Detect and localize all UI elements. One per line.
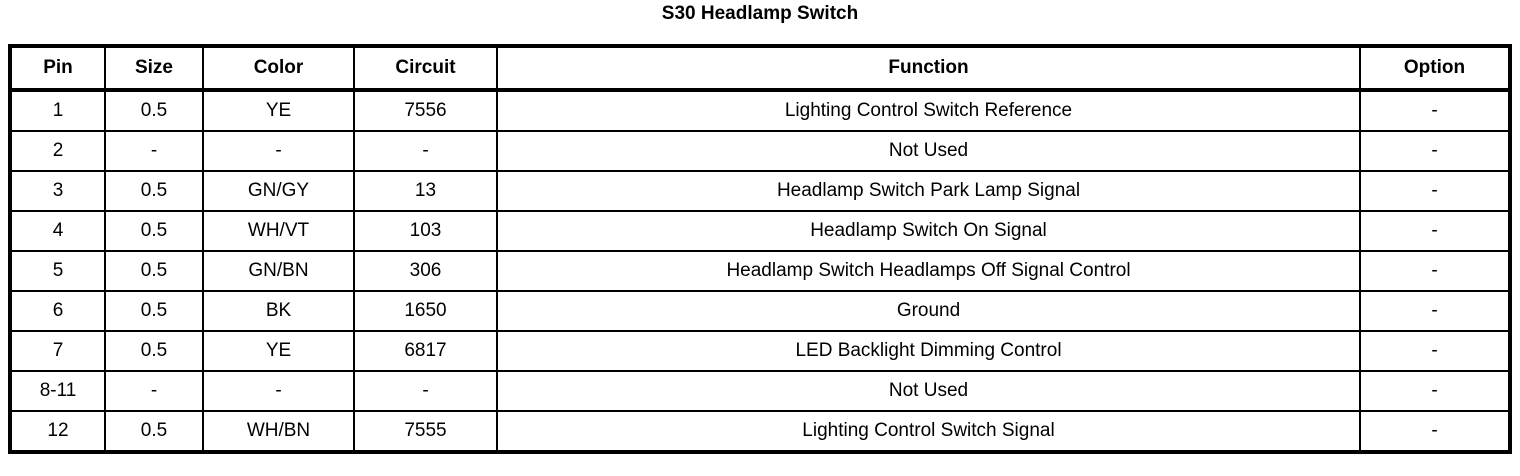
cell-pin: 7 xyxy=(10,331,105,371)
table-row: 3 0.5 GN/GY 13 Headlamp Switch Park Lamp… xyxy=(10,171,1510,211)
column-header-size: Size xyxy=(105,46,203,90)
column-header-color: Color xyxy=(203,46,354,90)
cell-function: Headlamp Switch On Signal xyxy=(497,211,1360,251)
table-row: 12 0.5 WH/BN 7555 Lighting Control Switc… xyxy=(10,411,1510,452)
cell-function: Lighting Control Switch Reference xyxy=(497,90,1360,131)
cell-circuit: - xyxy=(354,131,497,171)
cell-option: - xyxy=(1360,331,1510,371)
cell-circuit: 103 xyxy=(354,211,497,251)
table-row: 1 0.5 YE 7556 Lighting Control Switch Re… xyxy=(10,90,1510,131)
cell-circuit: 1650 xyxy=(354,291,497,331)
cell-option: - xyxy=(1360,411,1510,452)
cell-option: - xyxy=(1360,90,1510,131)
cell-circuit: 7556 xyxy=(354,90,497,131)
cell-size: 0.5 xyxy=(105,291,203,331)
column-header-function: Function xyxy=(497,46,1360,90)
cell-pin: 6 xyxy=(10,291,105,331)
cell-function: Not Used xyxy=(497,131,1360,171)
table-row: 2 - - - Not Used - xyxy=(10,131,1510,171)
table-row: 5 0.5 GN/BN 306 Headlamp Switch Headlamp… xyxy=(10,251,1510,291)
column-header-circuit: Circuit xyxy=(354,46,497,90)
cell-function: LED Backlight Dimming Control xyxy=(497,331,1360,371)
cell-circuit: 306 xyxy=(354,251,497,291)
cell-circuit: 13 xyxy=(354,171,497,211)
cell-option: - xyxy=(1360,171,1510,211)
cell-option: - xyxy=(1360,131,1510,171)
table-body: 1 0.5 YE 7556 Lighting Control Switch Re… xyxy=(10,90,1510,452)
cell-pin: 3 xyxy=(10,171,105,211)
cell-pin: 5 xyxy=(10,251,105,291)
cell-option: - xyxy=(1360,291,1510,331)
column-header-option: Option xyxy=(1360,46,1510,90)
cell-function: Not Used xyxy=(497,371,1360,411)
cell-color: - xyxy=(203,131,354,171)
cell-color: YE xyxy=(203,90,354,131)
cell-color: WH/VT xyxy=(203,211,354,251)
cell-color: BK xyxy=(203,291,354,331)
cell-size: 0.5 xyxy=(105,211,203,251)
cell-option: - xyxy=(1360,371,1510,411)
cell-size: 0.5 xyxy=(105,171,203,211)
table-row: 6 0.5 BK 1650 Ground - xyxy=(10,291,1510,331)
cell-size: 0.5 xyxy=(105,90,203,131)
cell-size: - xyxy=(105,371,203,411)
cell-pin: 8-11 xyxy=(10,371,105,411)
cell-function: Headlamp Switch Headlamps Off Signal Con… xyxy=(497,251,1360,291)
cell-size: 0.5 xyxy=(105,411,203,452)
cell-option: - xyxy=(1360,211,1510,251)
cell-circuit: - xyxy=(354,371,497,411)
header-row: Pin Size Color Circuit Function Option xyxy=(10,46,1510,90)
cell-function: Headlamp Switch Park Lamp Signal xyxy=(497,171,1360,211)
cell-function: Ground xyxy=(497,291,1360,331)
page-title: S30 Headlamp Switch xyxy=(0,2,1520,26)
table-row: 8-11 - - - Not Used - xyxy=(10,371,1510,411)
pin-assignment-table: Pin Size Color Circuit Function Option 1… xyxy=(8,44,1512,454)
page-root: S30 Headlamp Switch Pin Size Color Circu… xyxy=(0,0,1520,476)
cell-size: 0.5 xyxy=(105,251,203,291)
table-header: Pin Size Color Circuit Function Option xyxy=(10,46,1510,90)
cell-circuit: 6817 xyxy=(354,331,497,371)
cell-color: WH/BN xyxy=(203,411,354,452)
cell-pin: 2 xyxy=(10,131,105,171)
cell-color: - xyxy=(203,371,354,411)
cell-color: GN/BN xyxy=(203,251,354,291)
cell-pin: 12 xyxy=(10,411,105,452)
cell-color: YE xyxy=(203,331,354,371)
cell-circuit: 7555 xyxy=(354,411,497,452)
cell-pin: 4 xyxy=(10,211,105,251)
cell-color: GN/GY xyxy=(203,171,354,211)
cell-size: 0.5 xyxy=(105,331,203,371)
pin-table-container: Pin Size Color Circuit Function Option 1… xyxy=(8,44,1512,454)
cell-function: Lighting Control Switch Signal xyxy=(497,411,1360,452)
cell-pin: 1 xyxy=(10,90,105,131)
cell-option: - xyxy=(1360,251,1510,291)
table-row: 4 0.5 WH/VT 103 Headlamp Switch On Signa… xyxy=(10,211,1510,251)
cell-size: - xyxy=(105,131,203,171)
table-row: 7 0.5 YE 6817 LED Backlight Dimming Cont… xyxy=(10,331,1510,371)
column-header-pin: Pin xyxy=(10,46,105,90)
